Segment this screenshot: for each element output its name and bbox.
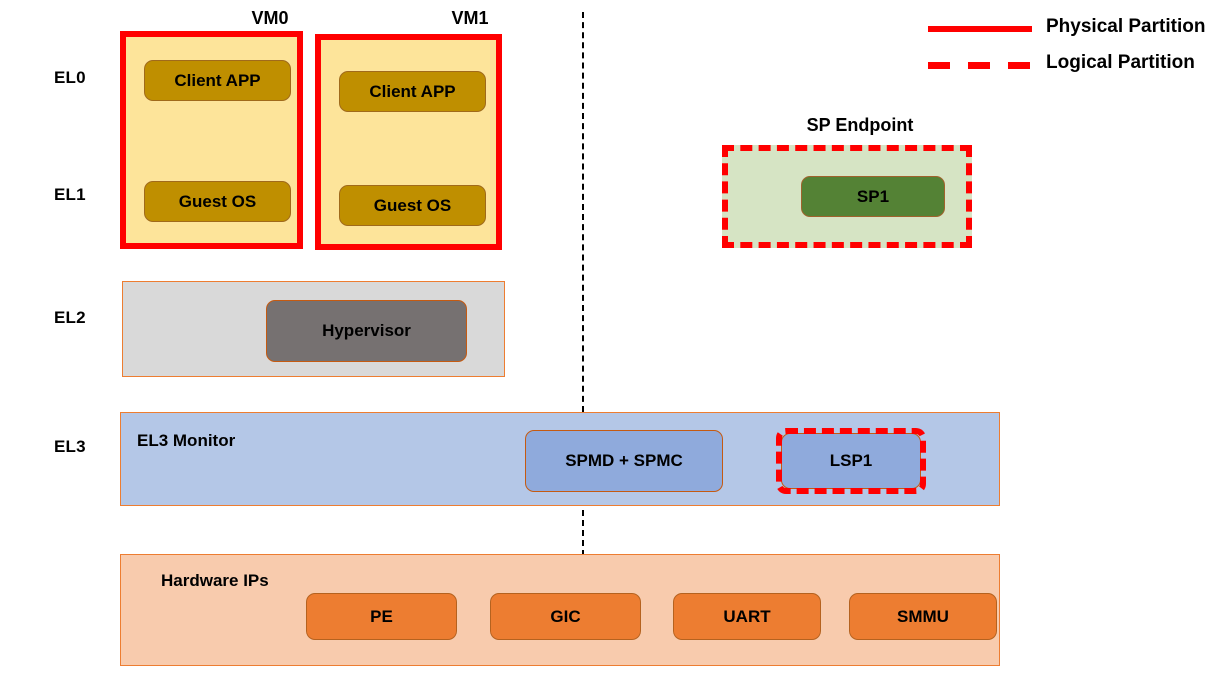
hardware-chip-smmu[interactable]: SMMU (849, 593, 997, 640)
vm0-title: VM0 (180, 8, 360, 29)
exception-level-label-el0: EL0 (54, 68, 86, 88)
legend-label-logical: Logical Partition (1046, 52, 1195, 74)
sp1-chip[interactable]: SP1 (801, 176, 945, 217)
vm1-guest-os-chip[interactable]: Guest OS (339, 185, 486, 226)
legend: Physical Partition Logical Partition (928, 10, 1213, 80)
hypervisor-chip[interactable]: Hypervisor (266, 300, 467, 362)
legend-label-physical: Physical Partition (1046, 16, 1205, 38)
legend-solid-line-icon (928, 26, 1032, 32)
exception-level-label-el3: EL3 (54, 437, 86, 457)
el3-band: EL3 Monitor SPMD + SPMC LSP1 (120, 412, 1000, 506)
sp-endpoint-logical-partition[interactable]: SP1 (722, 145, 972, 248)
diagram-canvas: Physical Partition Logical Partition EL0… (0, 0, 1220, 696)
hardware-band: Hardware IPs PE GIC UART SMMU (120, 554, 1000, 666)
vm0-physical-partition[interactable]: Client APP Guest OS (120, 31, 303, 249)
exception-level-label-el1: EL1 (54, 185, 86, 205)
vm0-guest-os-chip[interactable]: Guest OS (144, 181, 291, 222)
exception-level-label-el2: EL2 (54, 308, 86, 328)
vm1-title: VM1 (380, 8, 560, 29)
vm1-physical-partition[interactable]: Client APP Guest OS (315, 34, 502, 250)
vm1-client-app-chip[interactable]: Client APP (339, 71, 486, 112)
el3-band-label: EL3 Monitor (137, 431, 235, 451)
vm0-client-app-chip[interactable]: Client APP (144, 60, 291, 101)
hardware-chip-gic[interactable]: GIC (490, 593, 641, 640)
el2-band: Hypervisor (122, 281, 505, 377)
sp-endpoint-title: SP Endpoint (760, 115, 960, 136)
hardware-chip-uart[interactable]: UART (673, 593, 821, 640)
secure-nonsecure-divider-top (582, 12, 584, 412)
spmd-spmc-chip[interactable]: SPMD + SPMC (525, 430, 723, 492)
hardware-chip-pe[interactable]: PE (306, 593, 457, 640)
lsp1-logical-partition[interactable] (776, 428, 926, 494)
hardware-band-label: Hardware IPs (161, 571, 269, 591)
legend-dashed-line-icon (928, 62, 1032, 69)
secure-nonsecure-divider-bottom (582, 510, 584, 556)
